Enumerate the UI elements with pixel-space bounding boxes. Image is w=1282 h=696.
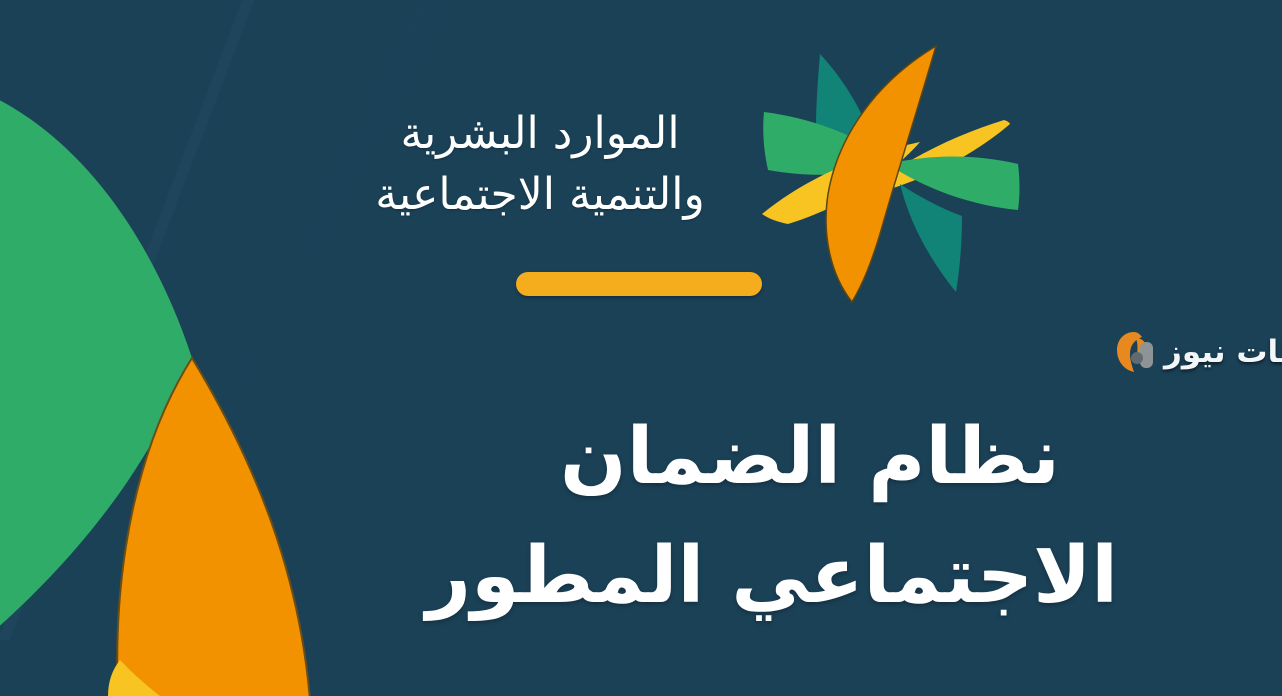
watermark-text: لحظات نيوز	[1164, 334, 1282, 370]
ministry-wordmark: الموارد البشرية والتنمية الاجتماعية	[330, 104, 750, 225]
orange-leaf-shape	[117, 358, 310, 696]
ministry-wordmark-line-2: والتنمية الاجتماعية	[330, 165, 750, 226]
lahazat-news-logo-icon	[1112, 328, 1158, 376]
ministry-logo-icon	[760, 38, 1022, 306]
headline: نظام الضمان الاجتماعي المطور	[430, 398, 1190, 635]
promo-banner: الموارد البشرية والتنمية الاجتماعية نظام…	[0, 0, 1282, 696]
amber-divider-pill	[516, 272, 762, 296]
yellow-sliver-shape	[108, 660, 160, 696]
watermark-gray-dot	[1131, 352, 1143, 364]
logo-leaf-teal-lower-right	[900, 184, 962, 292]
ministry-wordmark-line-1: الموارد البشرية	[330, 104, 750, 165]
headline-line-2: الاجتماعي المطور	[430, 517, 1190, 636]
green-leaf-shape	[0, 70, 192, 660]
headline-line-1: نظام الضمان	[430, 398, 1190, 517]
watermark: لحظات نيوز	[1112, 324, 1282, 380]
